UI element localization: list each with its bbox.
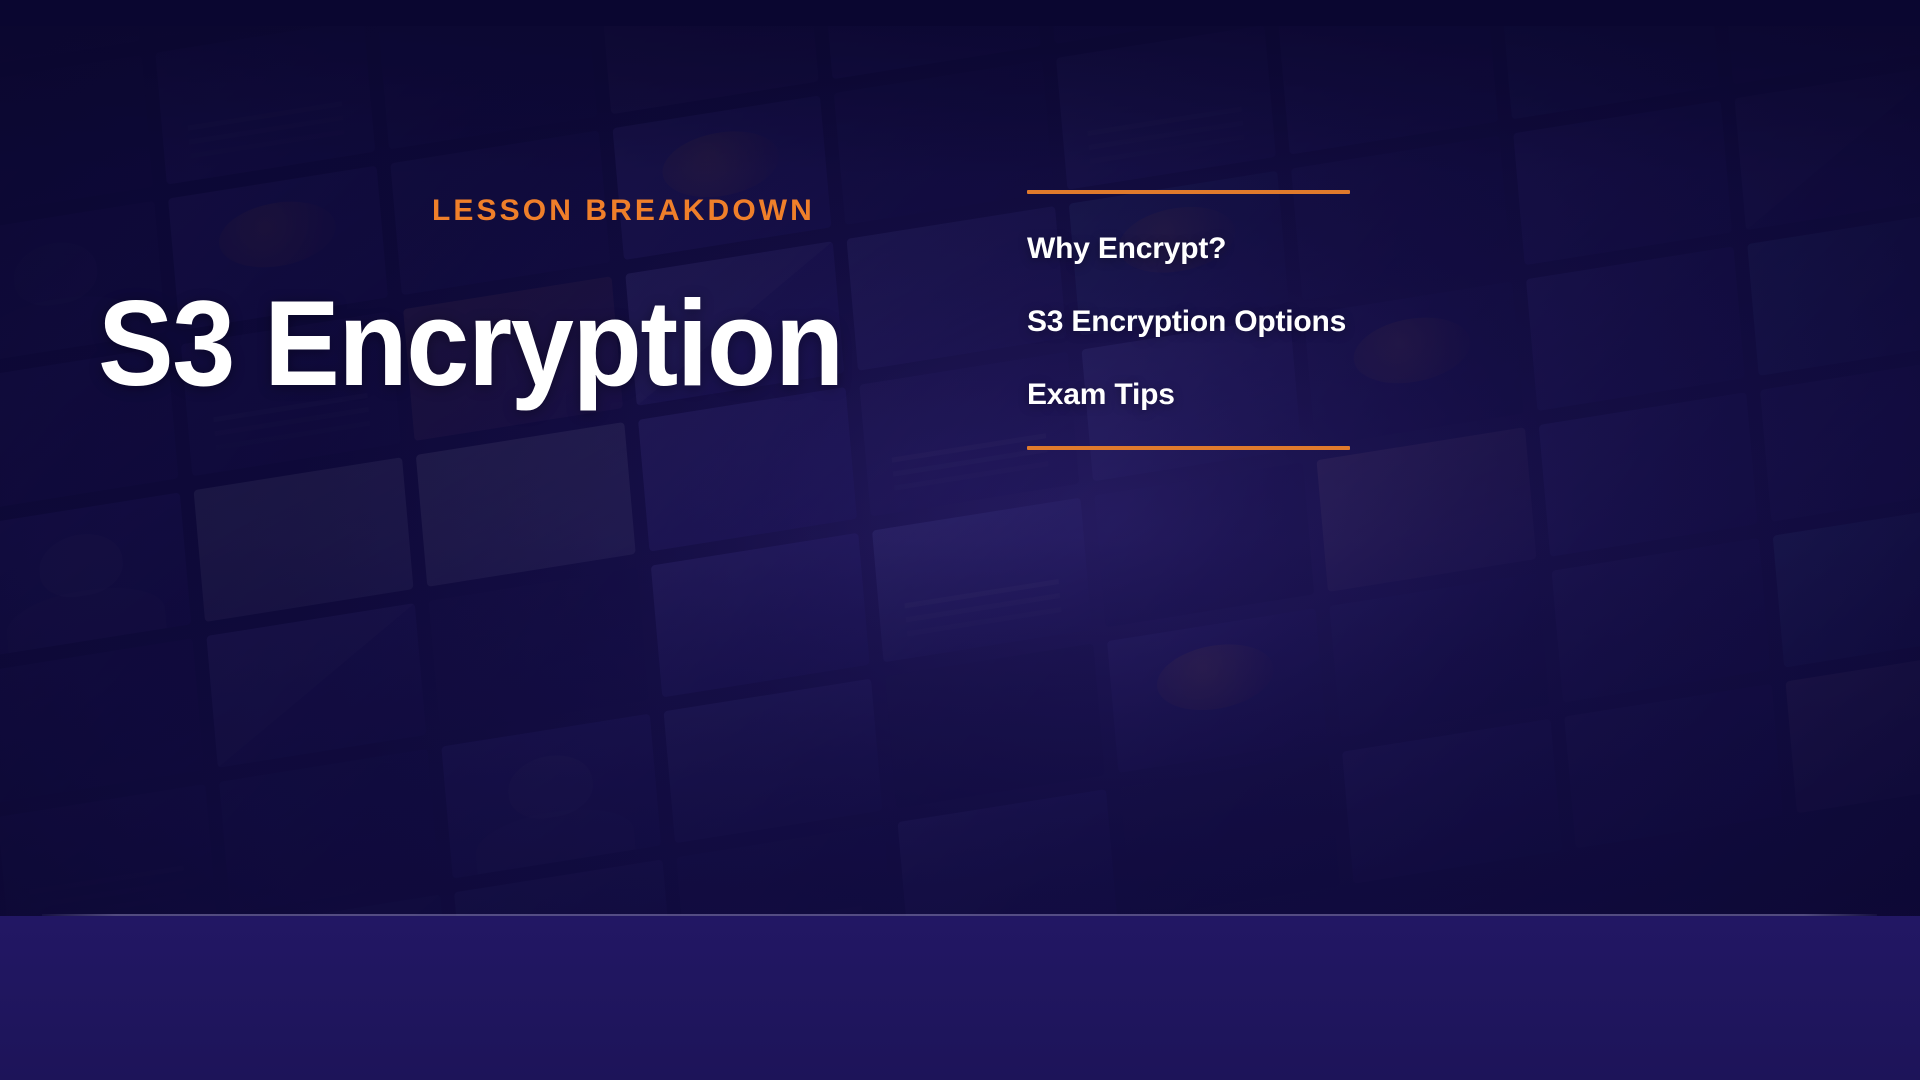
list-item: Exam Tips [1027,378,1350,412]
slide-root: LESSON BREAKDOWN S3 Encryption Why Encry… [0,0,1920,1080]
divider-rule-bottom [1027,446,1350,450]
list-item: Why Encrypt? [1027,232,1350,266]
eyebrow-label: LESSON BREAKDOWN [432,194,815,228]
divider-rule-top [1027,190,1350,194]
footer-bar: Faye Ellis TRAINING ARCHITECT [0,916,1920,1080]
page-title: S3 Encryption [98,282,843,404]
slide-content: LESSON BREAKDOWN S3 Encryption Why Encry… [0,0,1920,1080]
lesson-breakdown-list: Why Encrypt? S3 Encryption Options Exam … [1027,190,1350,450]
list-item: S3 Encryption Options [1027,305,1350,339]
